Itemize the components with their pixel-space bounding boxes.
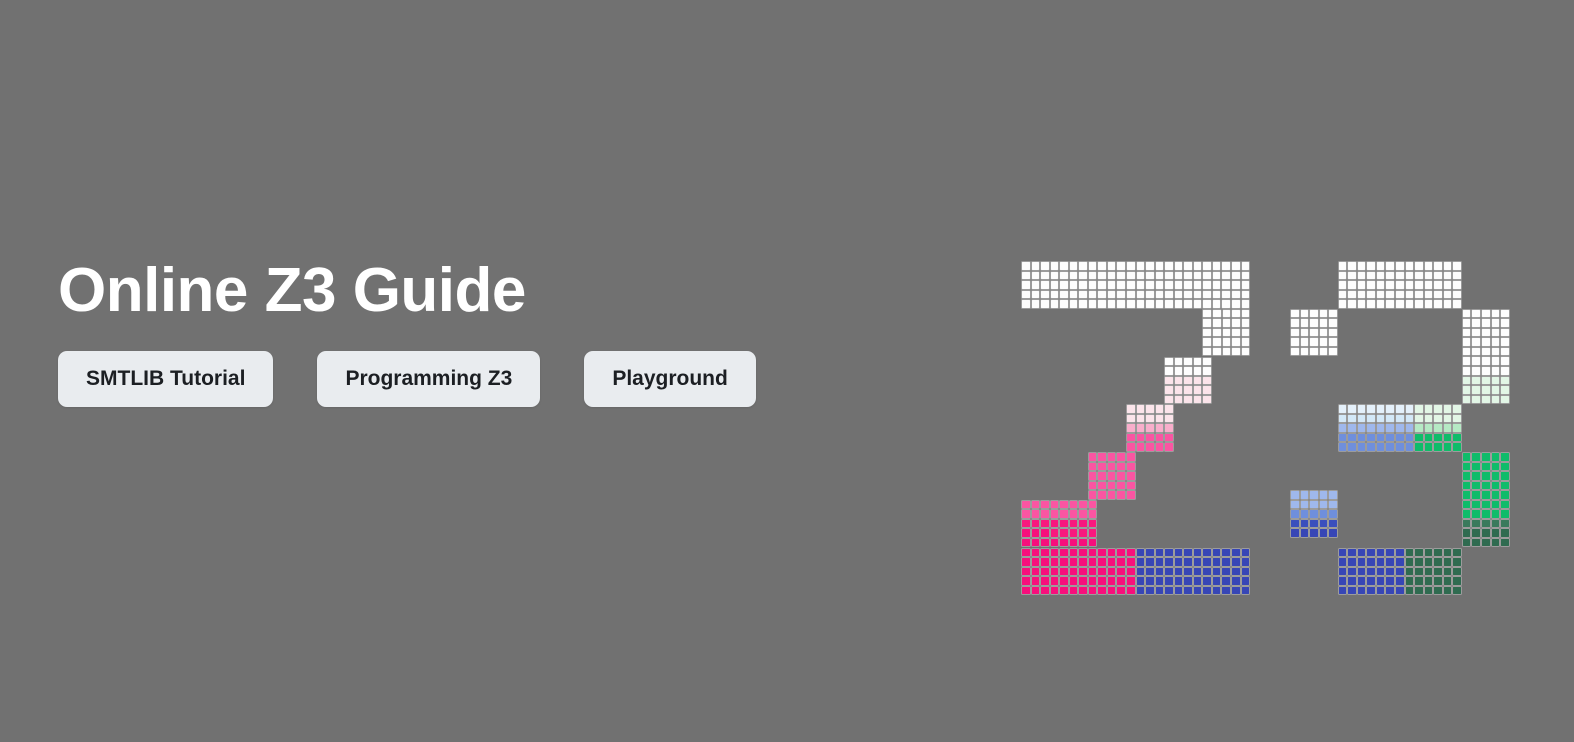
- pixel-cell: [1155, 261, 1165, 271]
- pixel-cell: [1405, 442, 1415, 452]
- pixel-cell: [1347, 567, 1357, 577]
- pixel-cell: [1414, 261, 1424, 271]
- pixel-cell: [1088, 280, 1098, 290]
- pixel-cell: [1212, 576, 1222, 586]
- pixel-cell: [1481, 509, 1491, 519]
- pixel-cell: [1319, 519, 1329, 529]
- pixel-cell: [1491, 509, 1501, 519]
- pixel-cell: [1040, 519, 1050, 529]
- pixel-cell: [1433, 557, 1443, 567]
- pixel-cell: [1424, 423, 1434, 433]
- pixel-cell: [1319, 309, 1329, 319]
- pixel-cell: [1031, 519, 1041, 529]
- pixel-cell: [1097, 271, 1107, 281]
- pixel-cell: [1021, 280, 1031, 290]
- pixel-cell: [1366, 442, 1376, 452]
- pixel-cell: [1107, 261, 1117, 271]
- pixel-cell: [1452, 442, 1462, 452]
- pixel-cell: [1405, 261, 1415, 271]
- pixel-cell: [1500, 452, 1510, 462]
- pixel-cell: [1471, 481, 1481, 491]
- pixel-cell: [1126, 271, 1136, 281]
- pixel-cell: [1088, 290, 1098, 300]
- pixel-cell: [1471, 462, 1481, 472]
- pixel-cell: [1126, 280, 1136, 290]
- pixel-cell: [1309, 490, 1319, 500]
- pixel-cell: [1366, 548, 1376, 558]
- pixel-cell: [1290, 347, 1300, 357]
- pixel-cell: [1059, 586, 1069, 596]
- pixel-cell: [1347, 414, 1357, 424]
- pixel-cell: [1471, 309, 1481, 319]
- pixel-cell: [1040, 280, 1050, 290]
- pixel-cell: [1300, 509, 1310, 519]
- pixel-cell: [1202, 548, 1212, 558]
- pixel-cell: [1491, 337, 1501, 347]
- pixel-cell: [1031, 290, 1041, 300]
- pixel-cell: [1376, 557, 1386, 567]
- pixel-cell: [1116, 280, 1126, 290]
- pixel-cell: [1136, 548, 1146, 558]
- pixel-cell: [1078, 576, 1088, 586]
- pixel-cell: [1481, 376, 1491, 386]
- pixel-cell: [1347, 442, 1357, 452]
- pixel-cell: [1347, 404, 1357, 414]
- pixel-cell: [1164, 442, 1174, 452]
- pixel-cell: [1097, 280, 1107, 290]
- pixel-cell: [1040, 557, 1050, 567]
- pixel-cell: [1231, 337, 1241, 347]
- pixel-cell: [1164, 290, 1174, 300]
- pixel-cell: [1116, 471, 1126, 481]
- pixel-cell: [1078, 586, 1088, 596]
- pixel-cell: [1395, 567, 1405, 577]
- pixel-cell: [1376, 290, 1386, 300]
- pixel-cell: [1212, 309, 1222, 319]
- pixel-cell: [1471, 385, 1481, 395]
- pixel-cell: [1136, 586, 1146, 596]
- pixel-cell: [1366, 271, 1376, 281]
- pixel-cell: [1155, 280, 1165, 290]
- pixel-cell: [1021, 299, 1031, 309]
- pixel-cell: [1222, 309, 1232, 319]
- pixel-cell: [1221, 567, 1231, 577]
- pixel-cell: [1241, 271, 1251, 281]
- pixel-cell: [1241, 586, 1251, 596]
- pixel-cell: [1164, 423, 1174, 433]
- pixel-cell: [1471, 366, 1481, 376]
- pixel-cell: [1136, 557, 1146, 567]
- pixel-cell: [1059, 261, 1069, 271]
- pixel-cell: [1376, 261, 1386, 271]
- pixel-cell: [1385, 271, 1395, 281]
- pixel-cell: [1443, 433, 1453, 443]
- pixel-cell: [1050, 280, 1060, 290]
- pixel-cell: [1031, 299, 1041, 309]
- pixel-cell: [1491, 500, 1501, 510]
- pixel-cell: [1097, 586, 1107, 596]
- pixel-cell: [1097, 462, 1107, 472]
- pixel-cell: [1221, 548, 1231, 558]
- pixel-cell: [1021, 519, 1031, 529]
- pixel-cell: [1031, 538, 1041, 548]
- pixel-cell: [1241, 261, 1251, 271]
- pixel-cell: [1414, 567, 1424, 577]
- pixel-cell: [1290, 490, 1300, 500]
- pixel-cell: [1107, 471, 1117, 481]
- pixel-cell: [1021, 557, 1031, 567]
- pixel-cell: [1202, 385, 1212, 395]
- pixel-cell: [1126, 299, 1136, 309]
- pixel-cell: [1059, 519, 1069, 529]
- pixel-cell: [1231, 290, 1241, 300]
- pixel-cell: [1107, 586, 1117, 596]
- pixel-cell: [1395, 299, 1405, 309]
- pixel-cell: [1491, 471, 1501, 481]
- pixel-cell: [1212, 280, 1222, 290]
- pixel-cell: [1126, 404, 1136, 414]
- pixel-cell: [1021, 548, 1031, 558]
- pixel-cell: [1241, 557, 1251, 567]
- pixel-cell: [1164, 548, 1174, 558]
- pixel-cell: [1385, 404, 1395, 414]
- pixel-cell: [1040, 290, 1050, 300]
- pixel-cell: [1481, 519, 1491, 529]
- pixel-cell: [1376, 586, 1386, 596]
- pixel-cell: [1126, 423, 1136, 433]
- pixel-cell: [1174, 299, 1184, 309]
- pixel-block: [1290, 490, 1338, 538]
- pixel-cell: [1366, 423, 1376, 433]
- pixel-cell: [1193, 385, 1203, 395]
- pixel-cell: [1376, 404, 1386, 414]
- pixel-cell: [1069, 567, 1079, 577]
- pixel-cell: [1500, 347, 1510, 357]
- pixel-cell: [1069, 271, 1079, 281]
- pixel-cell: [1078, 528, 1088, 538]
- pixel-cell: [1376, 280, 1386, 290]
- pixel-cell: [1462, 462, 1472, 472]
- pixel-cell: [1078, 557, 1088, 567]
- pixel-cell: [1452, 414, 1462, 424]
- pixel-cell: [1116, 462, 1126, 472]
- pixel-cell: [1500, 481, 1510, 491]
- pixel-cell: [1212, 567, 1222, 577]
- pixel-cell: [1097, 261, 1107, 271]
- pixel-cell: [1107, 299, 1117, 309]
- pixel-cell: [1433, 576, 1443, 586]
- pixel-cell: [1433, 586, 1443, 596]
- pixel-cell: [1395, 557, 1405, 567]
- pixel-cell: [1221, 557, 1231, 567]
- pixel-cell: [1443, 567, 1453, 577]
- pixel-cell: [1347, 261, 1357, 271]
- pixel-cell: [1347, 586, 1357, 596]
- pixel-cell: [1126, 290, 1136, 300]
- pixel-cell: [1145, 567, 1155, 577]
- pixel-cell: [1347, 423, 1357, 433]
- pixel-cell: [1174, 567, 1184, 577]
- pixel-cell: [1424, 261, 1434, 271]
- pixel-cell: [1145, 261, 1155, 271]
- pixel-cell: [1069, 500, 1079, 510]
- pixel-cell: [1500, 309, 1510, 319]
- pixel-cell: [1395, 423, 1405, 433]
- pixel-block: [1338, 261, 1462, 309]
- pixel-cell: [1231, 576, 1241, 586]
- pixel-cell: [1193, 567, 1203, 577]
- pixel-cell: [1155, 586, 1165, 596]
- pixel-cell: [1481, 356, 1491, 366]
- pixel-cell: [1088, 261, 1098, 271]
- pixel-cell: [1174, 366, 1184, 376]
- pixel-cell: [1395, 280, 1405, 290]
- pixel-cell: [1107, 567, 1117, 577]
- pixel-cell: [1347, 433, 1357, 443]
- pixel-cell: [1366, 586, 1376, 596]
- pixel-cell: [1443, 423, 1453, 433]
- pixel-cell: [1491, 385, 1501, 395]
- pixel-cell: [1395, 290, 1405, 300]
- pixel-cell: [1385, 548, 1395, 558]
- pixel-cell: [1338, 576, 1348, 586]
- pixel-cell: [1183, 385, 1193, 395]
- pixel-cell: [1395, 433, 1405, 443]
- pixel-cell: [1481, 462, 1491, 472]
- pixel-cell: [1395, 261, 1405, 271]
- pixel-cell: [1231, 309, 1241, 319]
- pixel-cell: [1462, 500, 1472, 510]
- pixel-cell: [1471, 500, 1481, 510]
- pixel-cell: [1462, 471, 1472, 481]
- pixel-cell: [1059, 500, 1069, 510]
- pixel-cell: [1136, 271, 1146, 281]
- pixel-cell: [1069, 299, 1079, 309]
- pixel-cell: [1300, 490, 1310, 500]
- pixel-cell: [1212, 337, 1222, 347]
- pixel-cell: [1078, 538, 1088, 548]
- pixel-cell: [1126, 481, 1136, 491]
- pixel-cell: [1202, 261, 1212, 271]
- pixel-cell: [1462, 347, 1472, 357]
- pixel-cell: [1481, 490, 1491, 500]
- pixel-cell: [1088, 299, 1098, 309]
- pixel-cell: [1347, 290, 1357, 300]
- pixel-cell: [1145, 586, 1155, 596]
- pixel-cell: [1202, 395, 1212, 405]
- pixel-cell: [1088, 528, 1098, 538]
- pixel-cell: [1338, 299, 1348, 309]
- pixel-cell: [1059, 271, 1069, 281]
- pixel-cell: [1481, 452, 1491, 462]
- pixel-cell: [1241, 309, 1251, 319]
- pixel-cell: [1193, 366, 1203, 376]
- pixel-cell: [1366, 280, 1376, 290]
- pixel-cell: [1414, 290, 1424, 300]
- pixel-cell: [1212, 328, 1222, 338]
- pixel-cell: [1385, 299, 1395, 309]
- pixel-cell: [1050, 567, 1060, 577]
- pixel-cell: [1183, 586, 1193, 596]
- pixel-cell: [1491, 395, 1501, 405]
- pixel-cell: [1424, 299, 1434, 309]
- pixel-cell: [1078, 567, 1088, 577]
- pixel-cell: [1338, 433, 1348, 443]
- pixel-cell: [1414, 414, 1424, 424]
- pixel-cell: [1116, 271, 1126, 281]
- pixel-cell: [1069, 586, 1079, 596]
- pixel-cell: [1319, 509, 1329, 519]
- pixel-cell: [1221, 280, 1231, 290]
- pixel-cell: [1174, 385, 1184, 395]
- pixel-cell: [1414, 299, 1424, 309]
- pixel-cell: [1241, 280, 1251, 290]
- pixel-cell: [1500, 385, 1510, 395]
- pixel-cell: [1405, 290, 1415, 300]
- pixel-cell: [1021, 271, 1031, 281]
- pixel-cell: [1443, 299, 1453, 309]
- pixel-cell: [1347, 280, 1357, 290]
- pixel-cell: [1059, 528, 1069, 538]
- pixel-cell: [1481, 481, 1491, 491]
- pixel-cell: [1328, 347, 1338, 357]
- pixel-cell: [1347, 576, 1357, 586]
- pixel-cell: [1462, 538, 1472, 548]
- pixel-cell: [1462, 395, 1472, 405]
- pixel-cell: [1145, 271, 1155, 281]
- pixel-cell: [1078, 299, 1088, 309]
- pixel-cell: [1481, 538, 1491, 548]
- pixel-cell: [1202, 557, 1212, 567]
- pixel-cell: [1443, 290, 1453, 300]
- pixel-cell: [1462, 309, 1472, 319]
- pixel-cell: [1309, 519, 1319, 529]
- pixel-cell: [1107, 271, 1117, 281]
- pixel-cell: [1164, 395, 1174, 405]
- pixel-cell: [1202, 357, 1212, 367]
- pixel-cell: [1136, 567, 1146, 577]
- pixel-cell: [1462, 509, 1472, 519]
- pixel-cell: [1366, 567, 1376, 577]
- pixel-cell: [1481, 328, 1491, 338]
- pixel-cell: [1069, 528, 1079, 538]
- pixel-cell: [1471, 356, 1481, 366]
- pixel-cell: [1231, 318, 1241, 328]
- pixel-cell: [1136, 290, 1146, 300]
- pixel-cell: [1174, 290, 1184, 300]
- pixel-cell: [1290, 528, 1300, 538]
- pixel-cell: [1097, 548, 1107, 558]
- pixel-cell: [1088, 519, 1098, 529]
- pixel-cell: [1155, 404, 1165, 414]
- pixel-cell: [1193, 290, 1203, 300]
- pixel-cell: [1059, 548, 1069, 558]
- playground-button[interactable]: Playground: [584, 351, 756, 407]
- pixel-cell: [1097, 567, 1107, 577]
- pixel-cell: [1202, 290, 1212, 300]
- pixel-cell: [1433, 433, 1443, 443]
- pixel-cell: [1107, 576, 1117, 586]
- pixel-cell: [1405, 567, 1415, 577]
- pixel-cell: [1145, 423, 1155, 433]
- pixel-cell: [1155, 567, 1165, 577]
- pixel-cell: [1193, 395, 1203, 405]
- pixel-cell: [1300, 500, 1310, 510]
- pixel-cell: [1462, 337, 1472, 347]
- pixel-cell: [1164, 271, 1174, 281]
- pixel-cell: [1500, 528, 1510, 538]
- pixel-cell: [1309, 337, 1319, 347]
- pixel-cell: [1319, 500, 1329, 510]
- pixel-cell: [1366, 261, 1376, 271]
- pixel-cell: [1357, 433, 1367, 443]
- pixel-cell: [1145, 414, 1155, 424]
- pixel-cell: [1385, 290, 1395, 300]
- pixel-cell: [1088, 490, 1098, 500]
- pixel-cell: [1069, 509, 1079, 519]
- pixel-cell: [1174, 271, 1184, 281]
- pixel-cell: [1222, 328, 1232, 338]
- pixel-cell: [1500, 376, 1510, 386]
- pixel-cell: [1078, 519, 1088, 529]
- pixel-cell: [1116, 557, 1126, 567]
- pixel-cell: [1164, 567, 1174, 577]
- pixel-cell: [1126, 586, 1136, 596]
- pixel-cell: [1078, 290, 1088, 300]
- pixel-cell: [1385, 576, 1395, 586]
- pixel-cell: [1059, 280, 1069, 290]
- pixel-cell: [1300, 309, 1310, 319]
- pixel-block: [1462, 452, 1510, 547]
- pixel-cell: [1164, 557, 1174, 567]
- pixel-cell: [1462, 318, 1472, 328]
- pixel-cell: [1164, 433, 1174, 443]
- pixel-cell: [1126, 576, 1136, 586]
- pixel-cell: [1241, 318, 1251, 328]
- pixel-cell: [1433, 261, 1443, 271]
- smtlib-tutorial-button[interactable]: SMTLIB Tutorial: [58, 351, 273, 407]
- pixel-cell: [1212, 290, 1222, 300]
- pixel-cell: [1193, 261, 1203, 271]
- pixel-cell: [1126, 261, 1136, 271]
- pixel-cell: [1357, 548, 1367, 558]
- pixel-cell: [1433, 290, 1443, 300]
- pixel-cell: [1443, 586, 1453, 596]
- pixel-cell: [1385, 261, 1395, 271]
- pixel-cell: [1136, 423, 1146, 433]
- pixel-cell: [1338, 290, 1348, 300]
- pixel-cell: [1424, 414, 1434, 424]
- pixel-cell: [1088, 586, 1098, 596]
- pixel-cell: [1040, 271, 1050, 281]
- pixel-cell: [1462, 528, 1472, 538]
- page-title: Online Z3 Guide: [58, 258, 978, 325]
- pixel-cell: [1357, 280, 1367, 290]
- pixel-cell: [1300, 528, 1310, 538]
- pixel-cell: [1443, 261, 1453, 271]
- pixel-cell: [1193, 299, 1203, 309]
- pixel-cell: [1471, 538, 1481, 548]
- pixel-cell: [1231, 557, 1241, 567]
- pixel-cell: [1405, 557, 1415, 567]
- pixel-cell: [1193, 280, 1203, 290]
- pixel-cell: [1059, 576, 1069, 586]
- pixel-cell: [1424, 404, 1434, 414]
- programming-z3-button[interactable]: Programming Z3: [317, 351, 540, 407]
- pixel-cell: [1107, 548, 1117, 558]
- pixel-cell: [1031, 280, 1041, 290]
- pixel-cell: [1021, 586, 1031, 596]
